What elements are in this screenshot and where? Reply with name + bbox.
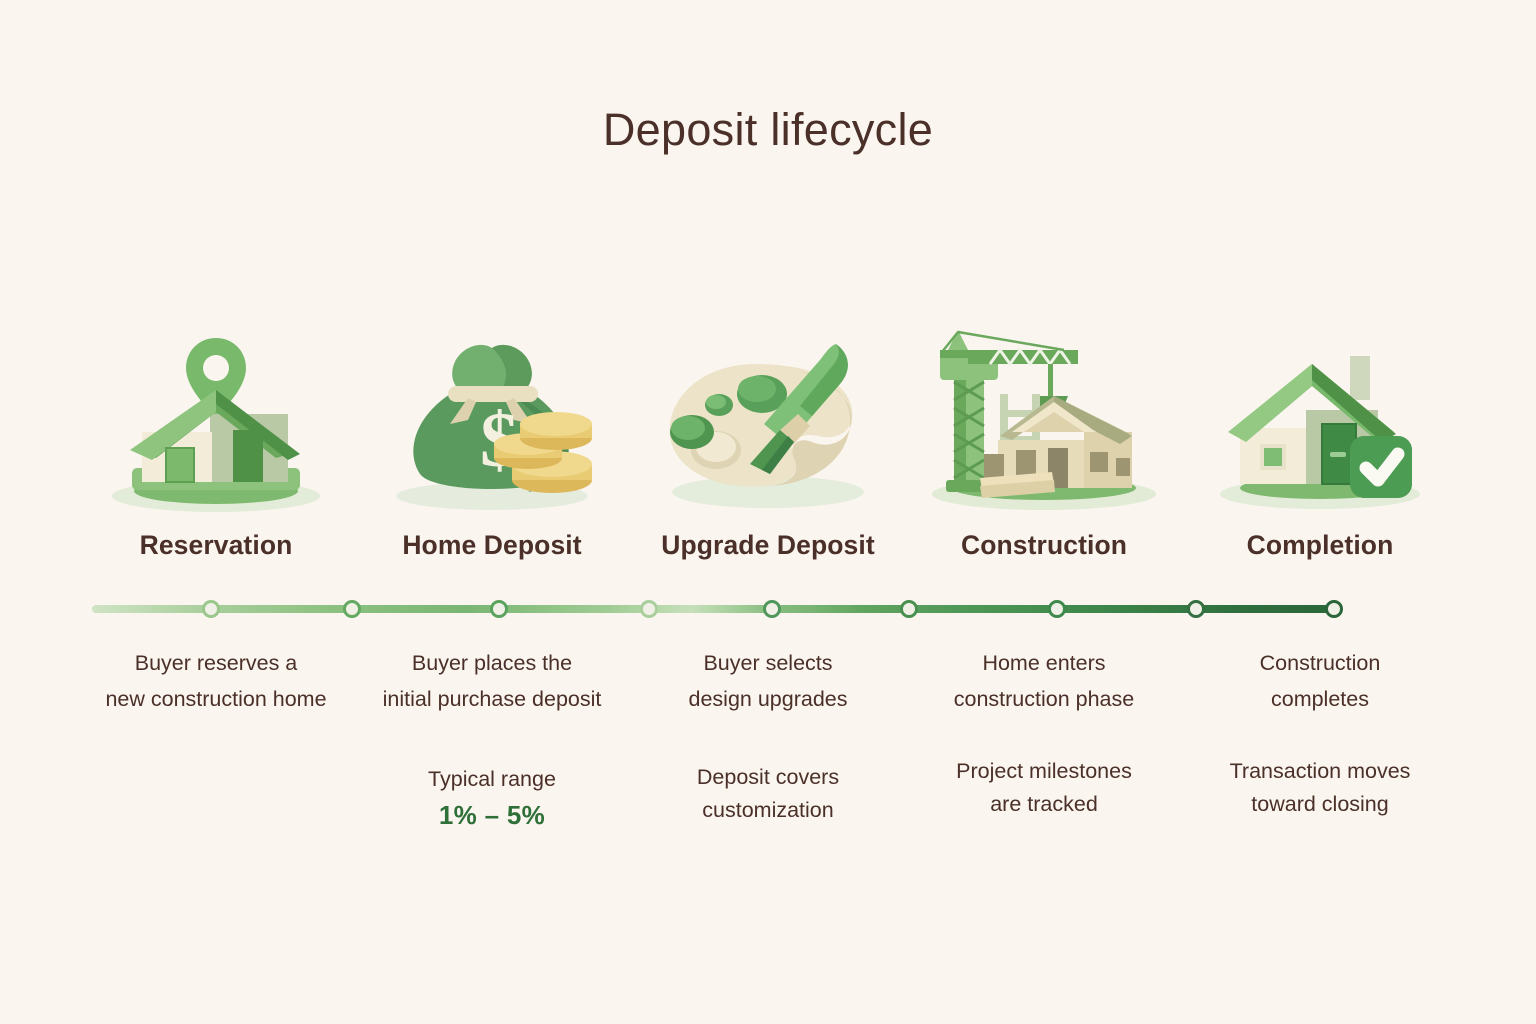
- sub-description-text: Project milestones are tracked: [956, 755, 1132, 821]
- description-text: Construction completes: [1260, 645, 1381, 717]
- description-line: Buyer places the: [383, 645, 602, 681]
- step-columns: Reservation $: [78, 318, 1458, 561]
- step-label: Completion: [1247, 530, 1394, 561]
- description-line: Construction: [1260, 645, 1381, 681]
- description-column-upgrade-deposit: Buyer selects design upgrades Deposit co…: [630, 645, 906, 827]
- sub-description-line: Project milestones: [956, 755, 1132, 788]
- description-column-home-deposit: Buyer places the initial purchase deposi…: [354, 645, 630, 831]
- timeline-rail: [92, 605, 1340, 613]
- description-text: Home enters construction phase: [954, 645, 1134, 717]
- description-column-reservation: Buyer reserves a new construction home: [78, 645, 354, 717]
- timeline-node[interactable]: [763, 600, 781, 618]
- step-label: Reservation: [140, 530, 293, 561]
- typical-range-value: 1% – 5%: [439, 800, 545, 831]
- step-column-reservation[interactable]: Reservation: [78, 318, 354, 561]
- completed-house-with-checkmark-icon: [1200, 318, 1440, 518]
- description-column-completion: Construction completes Transaction moves…: [1182, 645, 1458, 821]
- timeline-node[interactable]: [900, 600, 918, 618]
- step-descriptions: Buyer reserves a new construction home B…: [78, 645, 1458, 831]
- description-text: Buyer selects design upgrades: [689, 645, 848, 717]
- sub-description-line: are tracked: [956, 788, 1132, 821]
- step-label: Upgrade Deposit: [661, 530, 875, 561]
- timeline-node[interactable]: [1048, 600, 1066, 618]
- step-label: Construction: [961, 530, 1127, 561]
- timeline: [92, 600, 1340, 618]
- infographic-page: Deposit lifecycle: [0, 0, 1536, 1024]
- timeline-node[interactable]: [343, 600, 361, 618]
- description-text: Buyer places the initial purchase deposi…: [383, 645, 602, 717]
- typical-range-label: Typical range: [428, 763, 556, 795]
- description-line: initial purchase deposit: [383, 681, 602, 717]
- timeline-node[interactable]: [640, 600, 658, 618]
- step-column-home-deposit[interactable]: $ Home Deposit: [354, 318, 630, 561]
- step-column-upgrade-deposit[interactable]: Upgrade Deposit: [630, 318, 906, 561]
- description-column-construction: Home enters construction phase Project m…: [906, 645, 1182, 821]
- step-column-construction[interactable]: Construction: [906, 318, 1182, 561]
- description-line: Buyer reserves a: [105, 645, 326, 681]
- timeline-node[interactable]: [490, 600, 508, 618]
- sub-description-line: Deposit covers: [697, 761, 839, 794]
- description-line: completes: [1260, 681, 1381, 717]
- paint-palette-and-brush-icon: [648, 318, 888, 518]
- house-with-location-pin-icon: [96, 318, 336, 518]
- description-line: construction phase: [954, 681, 1134, 717]
- timeline-node[interactable]: [1187, 600, 1205, 618]
- description-line: new construction home: [105, 681, 326, 717]
- sub-description-text: Deposit covers customization: [697, 761, 839, 827]
- description-line: Home enters: [954, 645, 1134, 681]
- timeline-node[interactable]: [202, 600, 220, 618]
- crane-and-house-under-construction-icon: [924, 318, 1164, 518]
- sub-description-line: Transaction moves: [1230, 755, 1411, 788]
- sub-description-text: Transaction moves toward closing: [1230, 755, 1411, 821]
- money-bag-with-coins-icon: $: [372, 318, 612, 518]
- sub-description-line: customization: [697, 794, 839, 827]
- description-text: Buyer reserves a new construction home: [105, 645, 326, 717]
- timeline-node[interactable]: [1325, 600, 1343, 618]
- description-line: Buyer selects: [689, 645, 848, 681]
- step-column-completion[interactable]: Completion: [1182, 318, 1458, 561]
- sub-description-line: toward closing: [1230, 788, 1411, 821]
- step-label: Home Deposit: [402, 530, 581, 561]
- page-title: Deposit lifecycle: [0, 104, 1536, 156]
- description-line: design upgrades: [689, 681, 848, 717]
